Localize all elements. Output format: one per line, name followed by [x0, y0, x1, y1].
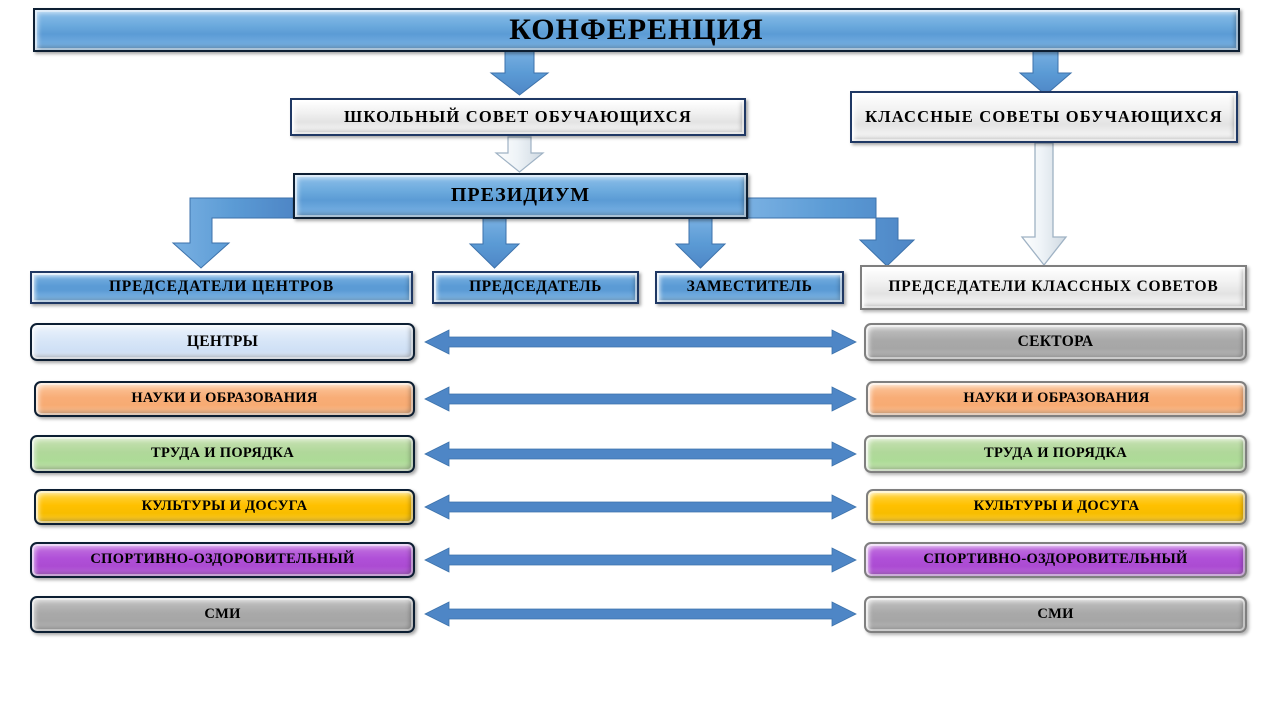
box-left-center-science: НАУКИ И ОБРАЗОВАНИЯ — [34, 381, 415, 417]
title-banner-conference: КОНФЕРЕНЦИЯ — [33, 8, 1240, 52]
box-right-heading-sectors: СЕКТОРА — [864, 323, 1247, 361]
arrow-class-councils-to-class-chairs — [1022, 143, 1066, 265]
box-deputy: ЗАМЕСТИТЕЛЬ — [655, 271, 844, 304]
box-left-center-sport-label: СПОРТИВНО-ОЗДОРОВИТЕЛЬНЫЙ — [90, 552, 354, 568]
arrow-presidium-to-deputy — [676, 218, 725, 268]
box-school-council-label: ШКОЛЬНЫЙ СОВЕТ ОБУЧАЮЩИХСЯ — [344, 108, 692, 126]
arrow-conference-to-class-councils — [1020, 50, 1071, 95]
box-left-center-culture: КУЛЬТУРЫ И ДОСУГА — [34, 489, 415, 525]
box-left-center-sport: СПОРТИВНО-ОЗДОРОВИТЕЛЬНЫЙ — [30, 542, 415, 578]
box-deputy-label: ЗАМЕСТИТЕЛЬ — [687, 279, 813, 296]
box-right-sector-media-label: СМИ — [1037, 607, 1073, 623]
arrow-presidium-to-chairman — [470, 218, 519, 268]
box-class-councils: КЛАССНЫЕ СОВЕТЫ ОБУЧАЮЩИХСЯ — [850, 91, 1238, 143]
box-right-sector-labor-label: ТРУДА И ПОРЯДКА — [984, 446, 1127, 462]
box-right-sector-science-label: НАУКИ И ОБРАЗОВАНИЯ — [963, 391, 1149, 407]
box-left-center-science-label: НАУКИ И ОБРАЗОВАНИЯ — [131, 391, 317, 407]
box-chairman: ПРЕДСЕДАТЕЛЬ — [432, 271, 639, 304]
box-left-heading-centers: ЦЕНТРЫ — [30, 323, 415, 361]
box-presidium: ПРЕЗИДИУМ — [293, 173, 748, 219]
box-class-council-chairs: ПРЕДСЕДАТЕЛИ КЛАССНЫХ СОВЕТОВ — [860, 265, 1247, 310]
box-left-center-labor-label: ТРУДА И ПОРЯДКА — [151, 446, 294, 462]
box-right-sector-sport: СПОРТИВНО-ОЗДОРОВИТЕЛЬНЫЙ — [864, 542, 1247, 578]
box-center-chairs-label: ПРЕДСЕДАТЕЛИ ЦЕНТРОВ — [109, 279, 334, 296]
arrow-presidium-to-center-chairs — [173, 198, 293, 268]
arrow-presidium-to-class-chairs — [748, 198, 914, 266]
box-center-chairs: ПРЕДСЕДАТЕЛИ ЦЕНТРОВ — [30, 271, 413, 304]
box-right-sector-sport-label: СПОРТИВНО-ОЗДОРОВИТЕЛЬНЫЙ — [923, 552, 1187, 568]
box-left-center-media-label: СМИ — [204, 607, 240, 623]
box-left-center-media: СМИ — [30, 596, 415, 633]
arrow-conference-to-school-council — [491, 50, 548, 95]
box-class-council-chairs-label: ПРЕДСЕДАТЕЛИ КЛАССНЫХ СОВЕТОВ — [888, 279, 1218, 296]
box-right-heading-sectors-label: СЕКТОРА — [1018, 334, 1094, 351]
box-right-sector-science: НАУКИ И ОБРАЗОВАНИЯ — [866, 381, 1247, 417]
box-right-sector-media: СМИ — [864, 596, 1247, 633]
arrow-school-council-to-presidium — [496, 137, 543, 172]
box-class-councils-label: КЛАССНЫЕ СОВЕТЫ ОБУЧАЮЩИХСЯ — [865, 108, 1223, 126]
box-right-sector-labor: ТРУДА И ПОРЯДКА — [864, 435, 1247, 473]
box-right-sector-culture: КУЛЬТУРЫ И ДОСУГА — [866, 489, 1247, 525]
box-school-council: ШКОЛЬНЫЙ СОВЕТ ОБУЧАЮЩИХСЯ — [290, 98, 746, 136]
box-presidium-label: ПРЕЗИДИУМ — [451, 185, 590, 207]
box-left-heading-centers-label: ЦЕНТРЫ — [187, 334, 258, 351]
title-banner-label: КОНФЕРЕНЦИЯ — [509, 14, 763, 46]
box-left-center-labor: ТРУДА И ПОРЯДКА — [30, 435, 415, 473]
box-right-sector-culture-label: КУЛЬТУРЫ И ДОСУГА — [974, 499, 1140, 515]
box-left-center-culture-label: КУЛЬТУРЫ И ДОСУГА — [142, 499, 308, 515]
org-chart-diagram: КОНФЕРЕНЦИЯ ШКОЛЬНЫЙ СОВЕТ ОБУЧАЮЩИХСЯ К… — [0, 0, 1280, 720]
box-chairman-label: ПРЕДСЕДАТЕЛЬ — [469, 279, 602, 296]
